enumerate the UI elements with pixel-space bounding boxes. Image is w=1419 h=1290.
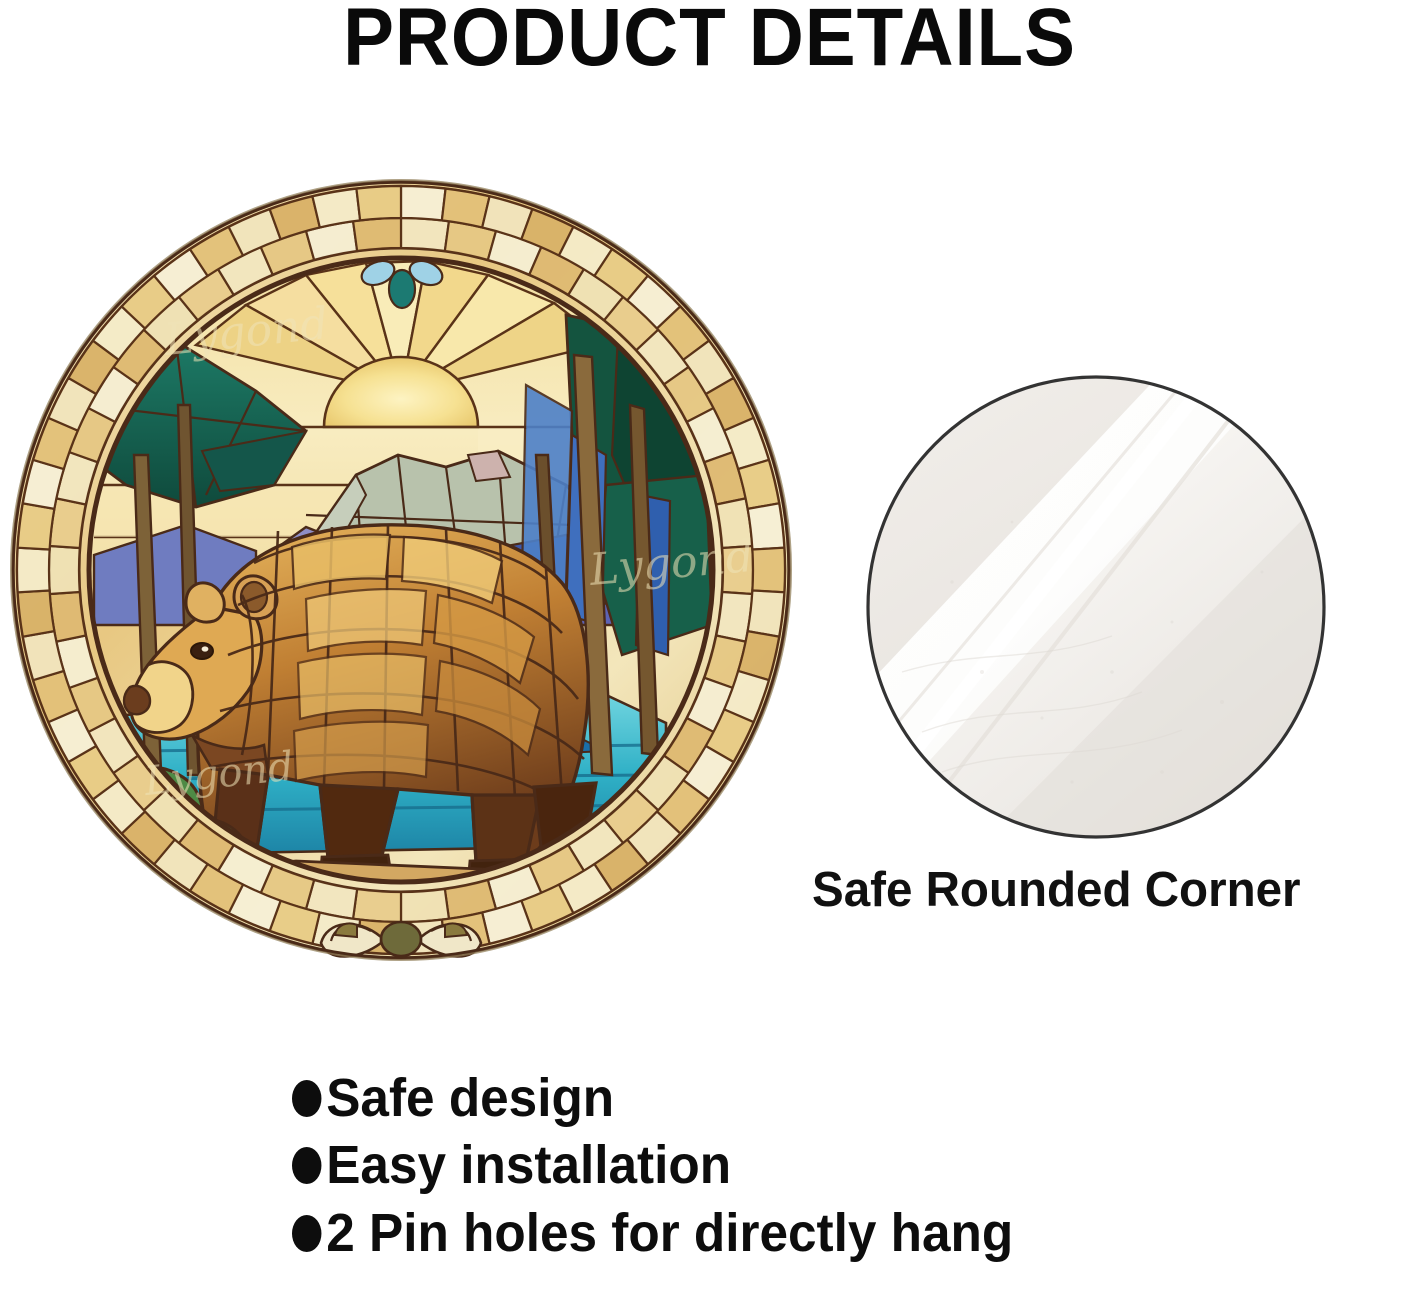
rounded-corner-closeup-svg bbox=[862, 372, 1330, 842]
list-item: 2 Pin holes for directly hang bbox=[292, 1203, 1242, 1263]
feature-list: Safe design Easy installation 2 Pin hole… bbox=[292, 1068, 1292, 1270]
feature-label: 2 Pin holes for directly hang bbox=[326, 1203, 1013, 1263]
feature-label: Easy installation bbox=[326, 1135, 731, 1195]
list-item: Easy installation bbox=[292, 1135, 1242, 1195]
rounded-corner-caption: Safe Rounded Corner bbox=[812, 862, 1401, 918]
bullet-icon bbox=[292, 1215, 321, 1252]
feature-label: Safe design bbox=[326, 1068, 614, 1128]
list-item: Safe design bbox=[292, 1068, 1242, 1128]
rounded-corner-image bbox=[862, 372, 1330, 842]
product-artwork-image: Lygond Lygond Lygond bbox=[6, 155, 796, 985]
page-title: PRODUCT DETAILS bbox=[50, 0, 1370, 80]
bullet-icon bbox=[292, 1080, 321, 1117]
bullet-icon bbox=[292, 1147, 321, 1184]
stained-glass-illustration: Lygond Lygond Lygond bbox=[6, 155, 796, 985]
